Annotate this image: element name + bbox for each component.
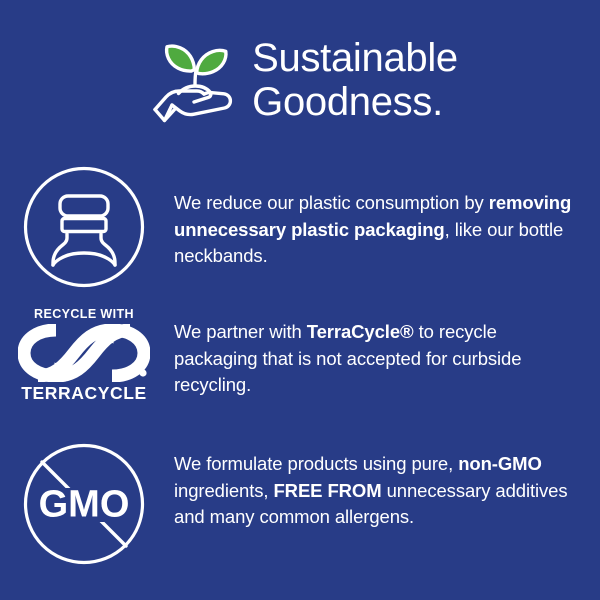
feature-row-non-gmo: GMO We formulate products using pure, no…: [0, 440, 600, 566]
feature-text-non-gmo: We formulate products using pure, non-GM…: [168, 440, 600, 531]
text-run-bold: FREE FROM: [273, 480, 381, 501]
text-run-bold: non-GMO: [458, 453, 542, 474]
feature-row-plastic: We reduce our plastic consumption by rem…: [0, 163, 600, 289]
page-title: Sustainable Goodness.: [252, 36, 458, 126]
text-run: We reduce our plastic consumption by: [174, 192, 489, 213]
text-run: We partner with: [174, 321, 307, 342]
sustainable-goodness-infographic: Sustainable Goodness. We reduce our plas…: [0, 0, 600, 600]
text-run: ingredients,: [174, 480, 273, 501]
no-gmo-prohibition-icon: GMO: [0, 440, 168, 566]
infinity-loop-arrows-icon: [18, 324, 150, 382]
feature-row-terracycle: RECYCLE WITH TERRACYCLE We partner with: [0, 305, 600, 403]
text-run: We formulate products using pure,: [174, 453, 458, 474]
feature-text-terracycle: We partner with TerraCycle® to recycle p…: [168, 305, 600, 399]
header: Sustainable Goodness.: [0, 22, 600, 140]
bottle-neckband-circle-icon: [0, 163, 168, 289]
feature-text-plastic: We reduce our plastic consumption by rem…: [168, 163, 600, 270]
hand-holding-plant-icon: [142, 31, 246, 135]
gmo-label: GMO: [39, 484, 130, 526]
terracycle-top-label: RECYCLE WITH: [34, 307, 134, 321]
terracycle-logo: RECYCLE WITH TERRACYCLE: [0, 305, 168, 403]
text-run-bold: TerraCycle®: [307, 321, 414, 342]
terracycle-bottom-label: TERRACYCLE: [21, 383, 147, 403]
